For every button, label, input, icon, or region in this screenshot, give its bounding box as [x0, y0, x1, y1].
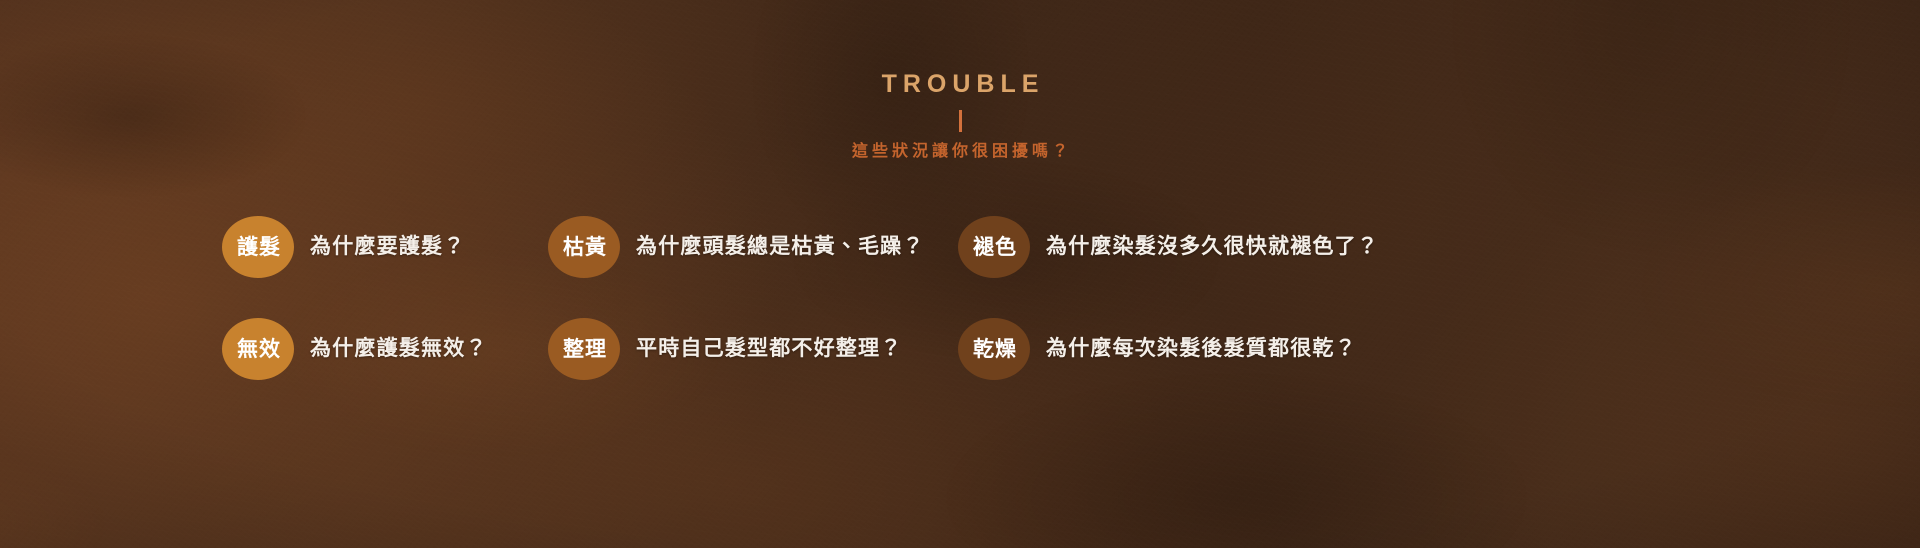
section-subtitle: 這些狀況讓你很困擾嗎？: [0, 144, 1920, 160]
trouble-question-4: 為什麼護髮無效？: [310, 337, 488, 360]
trouble-badge-6: 乾燥: [958, 318, 1030, 380]
title-divider: [959, 110, 962, 132]
trouble-badge-1: 護髮: [222, 216, 294, 278]
trouble-item-3: 褪色 為什麼染髮沒多久很快就褪色了？: [958, 196, 1702, 298]
section-heading: TROUBLE 這些狀況讓你很困擾嗎？: [0, 72, 1920, 160]
trouble-badge-2: 枯黃: [548, 216, 620, 278]
trouble-question-5: 平時自己髮型都不好整理？: [636, 337, 902, 360]
trouble-question-6: 為什麼每次染髮後髮質都很乾？: [1046, 337, 1357, 360]
trouble-items-grid: 護髮 為什麼要護髮？ 枯黃 為什麼頭髮總是枯黃、毛躁？ 褪色 為什麼染髮沒多久很…: [222, 196, 1702, 400]
section-content: TROUBLE 這些狀況讓你很困擾嗎？ 護髮 為什麼要護髮？ 枯黃 為什麼頭髮總…: [0, 0, 1920, 548]
trouble-question-2: 為什麼頭髮總是枯黃、毛躁？: [636, 235, 925, 258]
trouble-item-4: 無效 為什麼護髮無效？: [222, 298, 548, 400]
trouble-question-3: 為什麼染髮沒多久很快就褪色了？: [1046, 235, 1379, 258]
trouble-item-5: 整理 平時自己髮型都不好整理？: [548, 298, 958, 400]
trouble-badge-5: 整理: [548, 318, 620, 380]
trouble-badge-4: 無效: [222, 318, 294, 380]
trouble-item-6: 乾燥 為什麼每次染髮後髮質都很乾？: [958, 298, 1702, 400]
trouble-section: TROUBLE 這些狀況讓你很困擾嗎？ 護髮 為什麼要護髮？ 枯黃 為什麼頭髮總…: [0, 0, 1920, 548]
trouble-badge-3: 褪色: [958, 216, 1030, 278]
trouble-question-1: 為什麼要護髮？: [310, 235, 465, 258]
trouble-item-1: 護髮 為什麼要護髮？: [222, 196, 548, 298]
trouble-item-2: 枯黃 為什麼頭髮總是枯黃、毛躁？: [548, 196, 958, 298]
section-title: TROUBLE: [0, 72, 1920, 97]
